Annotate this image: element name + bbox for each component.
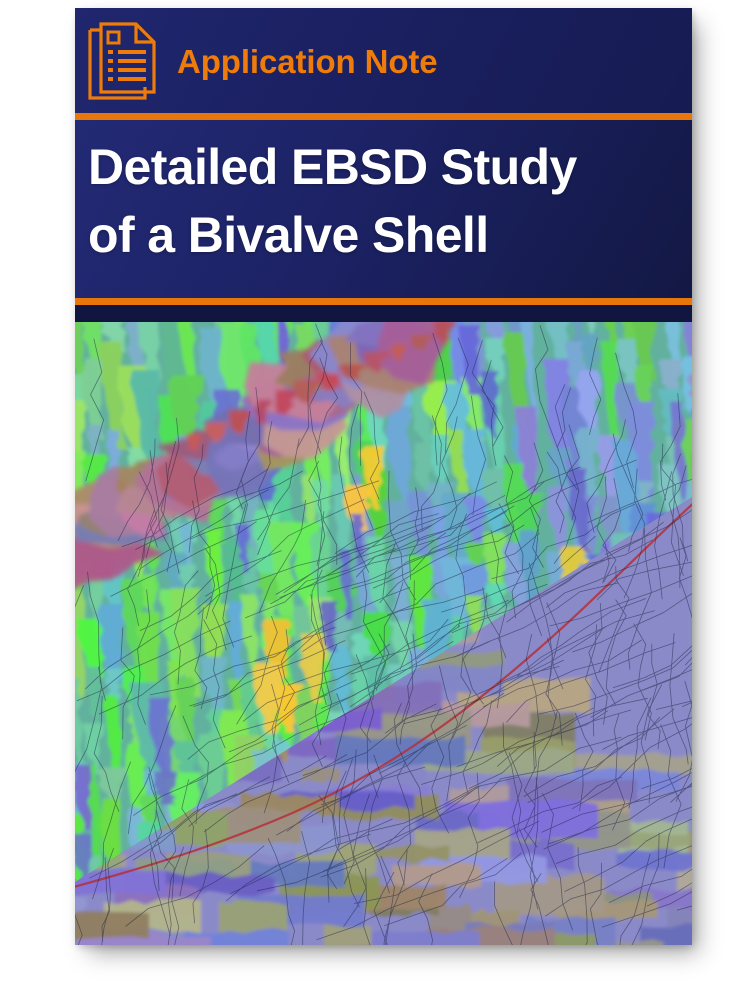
kicker-label: Application Note [177,45,438,78]
document-pages-icon [87,21,161,101]
brand-row: Application Note [87,8,438,113]
application-note-cover-card: Application Note Detailed EBSD Study of … [75,8,692,945]
ebsd-map-canvas [75,322,692,945]
divider-rule-top [75,113,692,120]
band-gap [75,305,692,322]
title-band: Detailed EBSD Study of a Bivalve Shell [75,120,692,298]
ebsd-orientation-map [75,322,692,945]
divider-rule-bottom [75,298,692,305]
header-band: Application Note [75,8,692,113]
lamella [364,930,480,945]
page-title: Detailed EBSD Study of a Bivalve Shell [88,134,674,269]
